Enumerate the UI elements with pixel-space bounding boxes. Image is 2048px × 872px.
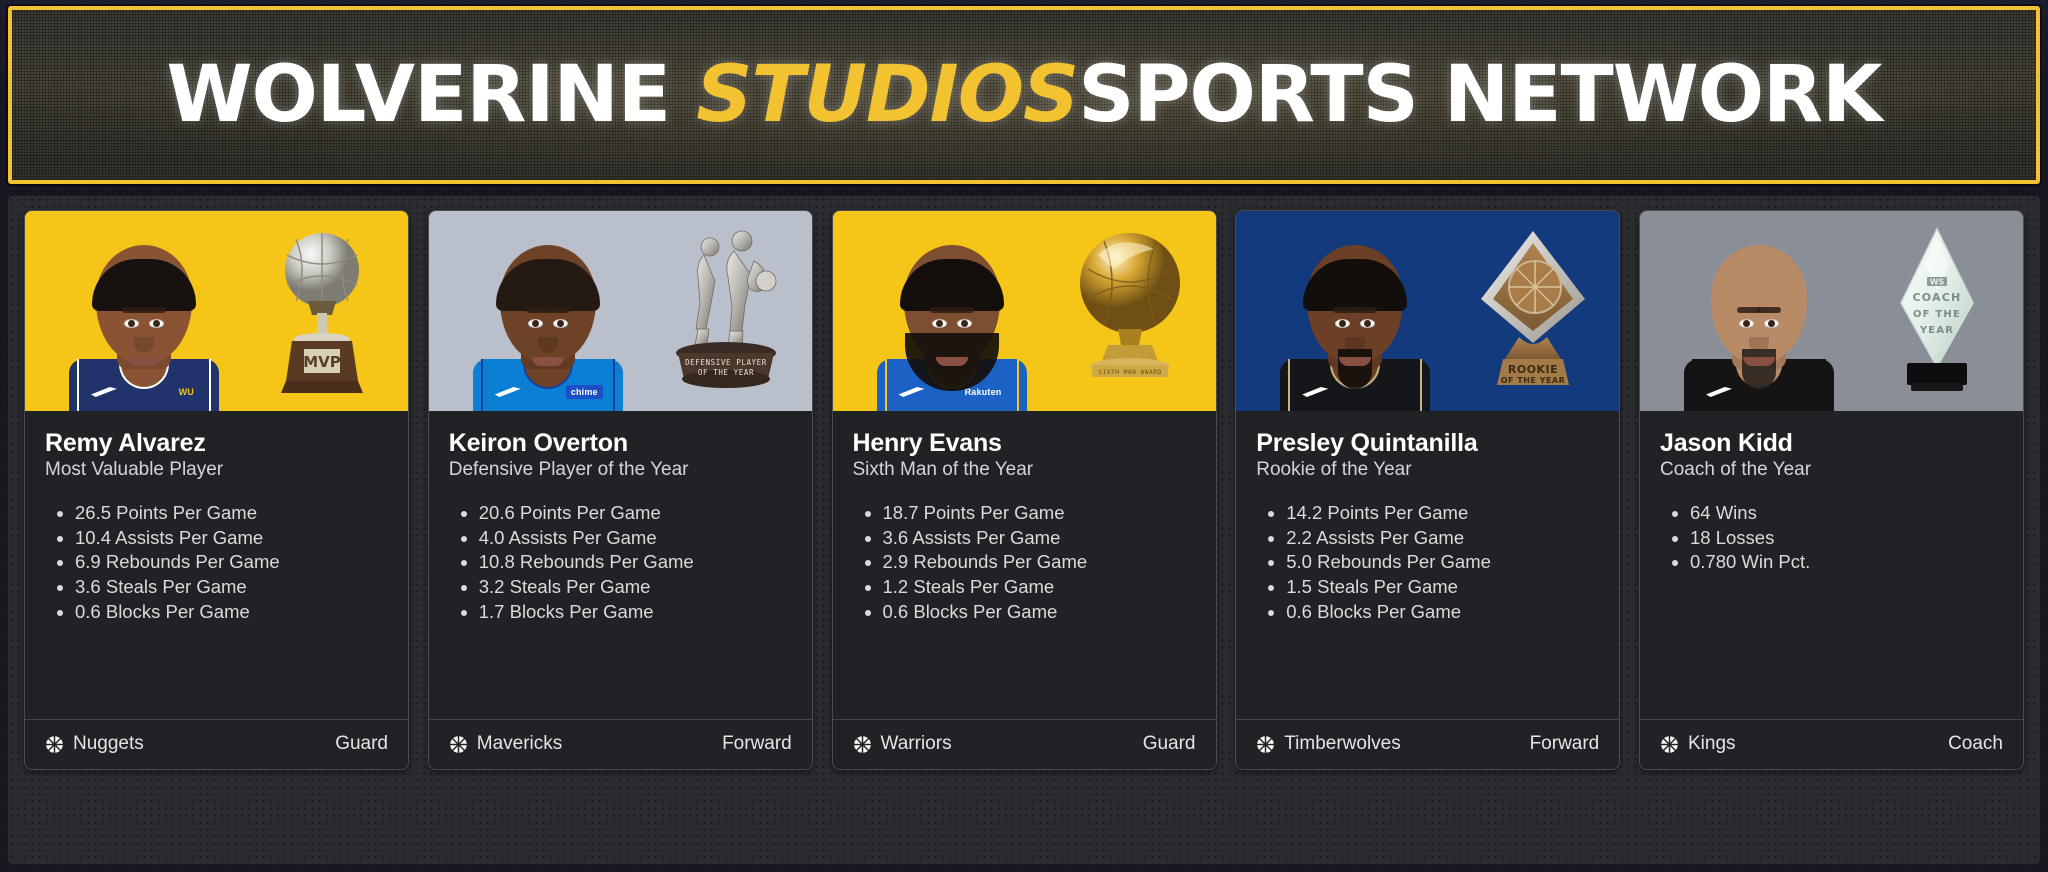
stat-item: 10.4 Assists Per Game [75,527,388,548]
body-spacer [853,626,1196,713]
nose [538,337,558,353]
player-position: Forward [722,733,792,755]
player-name: Jason Kidd [1660,429,2003,457]
basketball-icon [449,735,468,754]
player-headshot: chime [473,221,623,411]
player-headshot: Rakuten [877,221,1027,411]
face [96,245,192,363]
body-spacer [1660,576,2003,713]
face [904,245,1000,363]
jersey-brand-patch: chime [566,385,603,399]
award-title: Most Valuable Player [45,459,388,482]
player-position: Guard [1143,733,1196,755]
award-card[interactable]: ROOKIE OF THE YEAR Presley Quintanilla R… [1235,210,1620,770]
eye-right [149,319,164,328]
mouth [936,357,968,366]
jersey-strap-left [1692,359,1708,411]
player-name: Remy Alvarez [45,429,388,457]
stat-list: 18.7 Points Per Game3.6 Assists Per Game… [883,502,1196,626]
player-photo: chime [429,211,812,411]
defensive-player-trophy: DEFENSIVE PLAYER OF THE YEAR [666,225,786,397]
stat-item: 1.2 Steals Per Game [883,576,1196,597]
jersey-strap-left [885,359,901,411]
svg-text:MVP: MVP [303,353,341,371]
stat-list: 14.2 Points Per Game2.2 Assists Per Game… [1286,502,1599,626]
stat-item: 3.6 Assists Per Game [883,527,1196,548]
svg-text:WS: WS [1930,278,1945,287]
card-footer: Timberwolves Forward [1236,719,1619,769]
player-headshot: WU [69,221,219,411]
rookie-trophy: ROOKIE OF THE YEAR [1473,225,1593,397]
player-name: Keiron Overton [449,429,792,457]
svg-text:OF THE: OF THE [1913,309,1961,320]
nike-swoosh-icon [1706,387,1732,397]
eye-left [1335,319,1350,328]
stat-item: 0.6 Blocks Per Game [1286,601,1599,622]
award-title: Rookie of the Year [1256,459,1599,482]
svg-text:YEAR: YEAR [1919,325,1954,336]
award-title: Sixth Man of the Year [853,459,1196,482]
stat-item: 18.7 Points Per Game [883,502,1196,523]
hair [900,259,1004,311]
svg-text:ROOKIE: ROOKIE [1508,363,1558,376]
stat-item: 0.6 Blocks Per Game [883,601,1196,622]
hair [496,259,600,311]
svg-text:OF THE YEAR: OF THE YEAR [698,368,754,377]
award-card[interactable]: WS COACH OF THE YEAR Jason Kidd Coach of… [1639,210,2024,770]
card-body: Henry Evans Sixth Man of the Year 18.7 P… [833,411,1216,719]
stat-item: 4.0 Assists Per Game [479,527,792,548]
stat-item: 6.9 Rebounds Per Game [75,551,388,572]
card-body: Remy Alvarez Most Valuable Player 26.5 P… [25,411,408,719]
nike-swoosh-icon [1302,387,1328,397]
card-body: Jason Kidd Coach of the Year 64 Wins18 L… [1640,411,2023,719]
stat-item: 1.7 Blocks Per Game [479,601,792,622]
stat-item: 0.780 Win Pct. [1690,551,2003,572]
player-name: Presley Quintanilla [1256,429,1599,457]
sixth-man-trophy: SIXTH MAN AWARD [1070,225,1190,397]
goatee [1742,349,1776,389]
award-trophy: DEFENSIVE PLAYER OF THE YEAR [666,225,786,397]
eyebrow-right [1353,307,1377,313]
player-headshot [1280,221,1430,411]
jersey-strap-right [1810,359,1826,411]
stat-item: 1.5 Steals Per Game [1286,576,1599,597]
player-headshot [1684,221,1834,411]
card-footer: Kings Coach [1640,719,2023,769]
stat-item: 64 Wins [1690,502,2003,523]
team-info[interactable]: Nuggets [45,733,144,755]
eye-left [124,319,139,328]
stat-item: 0.6 Blocks Per Game [75,601,388,622]
player-photo: Rakuten [833,211,1216,411]
stat-item: 18 Losses [1690,527,2003,548]
hair [92,259,196,311]
award-title: Defensive Player of the Year [449,459,792,482]
banner-title: WOLVERINE STUDIOSSPORTS NETWORK [12,56,2036,134]
body-spacer [45,626,388,713]
eye-left [932,319,947,328]
jersey-strap-right [1406,359,1422,411]
eye-right [553,319,568,328]
banner-word-studios: STUDIOS [696,50,1078,140]
stat-item: 10.8 Rebounds Per Game [479,551,792,572]
award-trophy: MVP [262,225,382,397]
team-info[interactable]: Mavericks [449,733,563,755]
jersey-brand-patch: WU [174,385,199,399]
card-footer: Warriors Guard [833,719,1216,769]
award-trophy: WS COACH OF THE YEAR [1877,225,1997,397]
award-card[interactable]: chime [428,210,813,770]
eye-left [1739,319,1754,328]
team-name: Warriors [881,733,952,755]
player-position: Guard [335,733,388,755]
face [1711,245,1807,363]
stat-item: 5.0 Rebounds Per Game [1286,551,1599,572]
mouth [128,357,160,366]
nose [134,337,154,353]
stat-item: 2.9 Rebounds Per Game [883,551,1196,572]
app-root: WOLVERINE STUDIOSSPORTS NETWORK WU [0,0,2048,872]
stat-item: 14.2 Points Per Game [1286,502,1599,523]
awards-strip: WU [8,196,2040,864]
mouth [1339,357,1371,366]
award-card-list: WU [8,196,2040,864]
card-footer: Mavericks Forward [429,719,812,769]
team-name: Nuggets [73,733,144,755]
goatee [1338,349,1372,389]
eyebrow-right [142,307,166,313]
eye-right [1764,319,1779,328]
eyebrow-right [950,307,974,313]
nike-swoosh-icon [899,387,925,397]
stat-list: 20.6 Points Per Game4.0 Assists Per Game… [479,502,792,626]
coach-trophy: WS COACH OF THE YEAR [1877,225,1997,397]
player-photo: WS COACH OF THE YEAR [1640,211,2023,411]
nike-swoosh-icon [91,387,117,397]
card-footer: Nuggets Guard [25,719,408,769]
award-title: Coach of the Year [1660,459,2003,482]
basketball-icon [1256,735,1275,754]
jersey-strap-left [77,359,93,411]
player-name: Henry Evans [853,429,1196,457]
svg-text:COACH: COACH [1913,291,1962,304]
eye-right [1360,319,1375,328]
stat-item: 20.6 Points Per Game [479,502,792,523]
basketball-icon [45,735,64,754]
eyebrow-right [546,307,570,313]
stat-list: 26.5 Points Per Game10.4 Assists Per Gam… [75,502,388,626]
face [1307,245,1403,363]
banner-word-wolverine: WOLVERINE [166,50,696,140]
card-body: Keiron Overton Defensive Player of the Y… [429,411,812,719]
mouth [1743,357,1775,366]
svg-text:SIXTH MAN AWARD: SIXTH MAN AWARD [1098,369,1161,376]
svg-text:DEFENSIVE PLAYER: DEFENSIVE PLAYER [685,358,767,367]
team-info[interactable]: Warriors [853,733,952,755]
team-name: Kings [1688,733,1736,755]
stat-item: 2.2 Assists Per Game [1286,527,1599,548]
basketball-icon [853,735,872,754]
jersey-strap-left [481,359,497,411]
player-photo: WU [25,211,408,411]
award-card[interactable]: WU [24,210,409,770]
eye-left [528,319,543,328]
stat-item: 26.5 Points Per Game [75,502,388,523]
nike-swoosh-icon [495,387,521,397]
eyebrow-right [1757,307,1781,313]
team-info[interactable]: Timberwolves [1256,733,1401,755]
mouth [532,357,564,366]
team-info[interactable]: Kings [1660,733,1736,755]
card-body: Presley Quintanilla Rookie of the Year 1… [1236,411,1619,719]
banner-word-sports-network: SPORTS NETWORK [1078,50,1881,140]
svg-text:OF THE YEAR: OF THE YEAR [1501,376,1566,385]
jersey-strap-left [1288,359,1304,411]
body-spacer [1256,626,1599,713]
player-position: Coach [1948,733,2003,755]
body-spacer [449,626,792,713]
basketball-icon [1660,735,1679,754]
team-name: Timberwolves [1284,733,1401,755]
face [500,245,596,363]
stat-list: 64 Wins18 Losses0.780 Win Pct. [1690,502,2003,576]
hair [1303,259,1407,311]
player-position: Forward [1530,733,1600,755]
network-banner: WOLVERINE STUDIOSSPORTS NETWORK [8,6,2040,184]
award-trophy: ROOKIE OF THE YEAR [1473,225,1593,397]
stat-item: 3.6 Steals Per Game [75,576,388,597]
mvp-trophy: MVP [262,225,382,397]
eye-right [957,319,972,328]
award-card[interactable]: Rakuten [832,210,1217,770]
team-name: Mavericks [477,733,563,755]
stat-item: 3.2 Steals Per Game [479,576,792,597]
award-trophy: SIXTH MAN AWARD [1070,225,1190,397]
player-photo: ROOKIE OF THE YEAR [1236,211,1619,411]
